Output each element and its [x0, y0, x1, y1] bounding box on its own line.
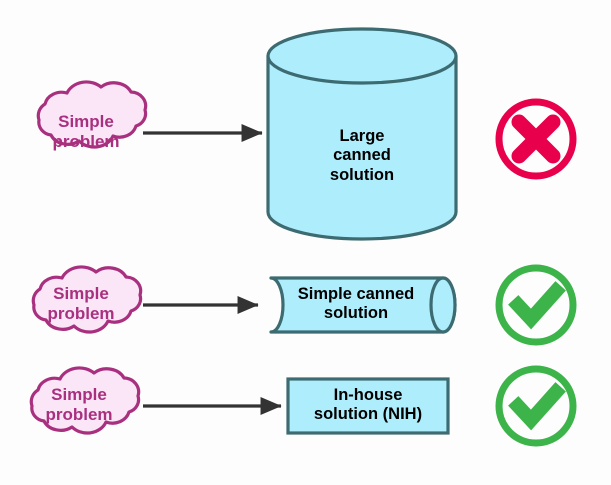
cloud-shape-row-3[interactable] [31, 368, 138, 433]
cross-circle-icon[interactable] [499, 102, 573, 176]
cylinder-horizontal-shape[interactable] [271, 278, 455, 332]
rectangle-shape[interactable] [288, 379, 448, 433]
check-circle-icon-row-3[interactable] [499, 369, 573, 443]
cloud-shape-row-2[interactable] [33, 267, 140, 332]
diagram-vector-layer [0, 0, 611, 485]
cloud-shape-row-1[interactable] [38, 82, 145, 147]
check-circle-icon-row-2[interactable] [499, 268, 573, 342]
diagram-canvas: Simple problem Large canned solution Sim… [0, 0, 611, 485]
cylinder-vertical-shape[interactable] [268, 29, 456, 239]
